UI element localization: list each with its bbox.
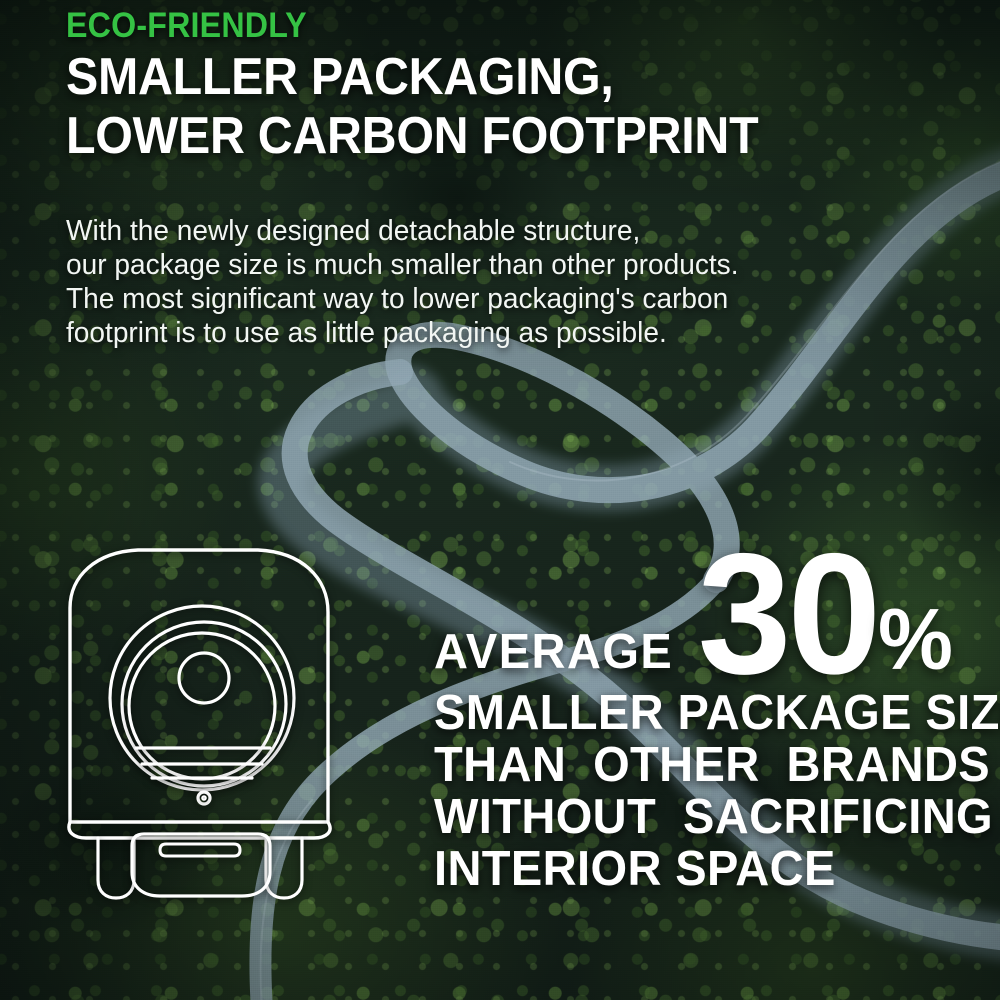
promo-banner: ECO-FRIENDLY SMALLER PACKAGING, LOWER CA…	[0, 0, 1000, 1000]
litter-box-outline-icon	[52, 520, 372, 910]
stat-number: 30	[698, 547, 878, 681]
stat-line-3: WITHOUT SACRIFICING	[434, 791, 933, 843]
eyebrow-label: ECO-FRIENDLY	[66, 6, 751, 46]
stat-line-2: THAN OTHER BRANDS	[434, 739, 933, 791]
stat-percent-sign: %	[878, 603, 953, 681]
body-line-3: The most significant way to lower packag…	[66, 282, 739, 316]
stat-average-label: AVERAGE	[434, 628, 673, 681]
body-line-4: footprint is to use as little packaging …	[66, 316, 739, 350]
body-copy: With the newly designed detachable struc…	[66, 214, 739, 350]
headline-block: ECO-FRIENDLY SMALLER PACKAGING, LOWER CA…	[66, 6, 810, 164]
headline-line-2: LOWER CARBON FOOTPRINT	[66, 109, 758, 164]
stat-line-4: INTERIOR SPACE	[434, 843, 933, 895]
headline-line-1: SMALLER PACKAGING,	[66, 50, 758, 105]
body-line-1: With the newly designed detachable struc…	[66, 214, 739, 248]
stat-block: AVERAGE 30 % SMALLER PACKAGE SIZE THAN O…	[434, 553, 954, 895]
stat-line-1: SMALLER PACKAGE SIZE	[434, 687, 933, 739]
body-line-2: our package size is much smaller than ot…	[66, 248, 739, 282]
